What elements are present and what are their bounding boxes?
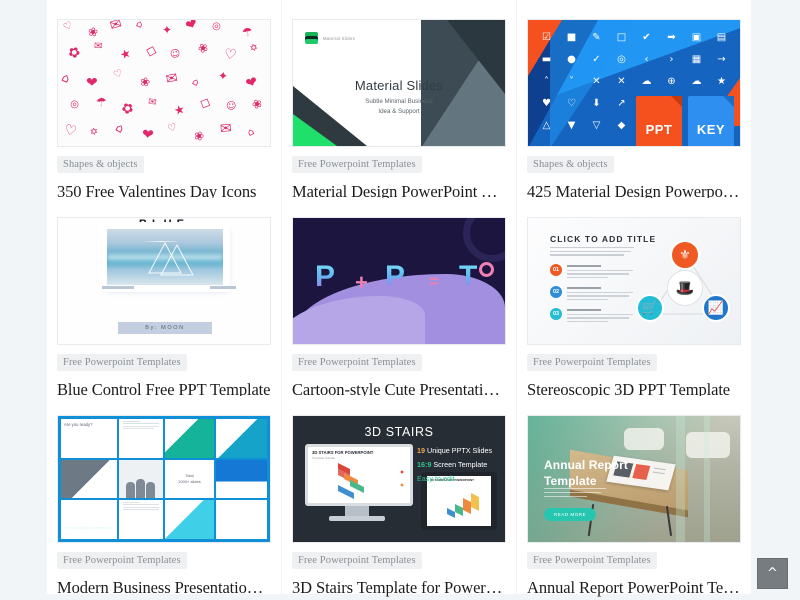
annual-line-2: Template: [544, 474, 597, 488]
card-title[interactable]: Annual Report PowerPoint Tem…: [527, 578, 741, 598]
slide-headline: 3D STAIRS: [293, 425, 505, 439]
template-card[interactable]: Material Slides Material Slides Subtle M…: [282, 0, 516, 198]
chevron-up-icon: ^: [767, 566, 778, 581]
valentine-icon: ❀: [87, 25, 98, 38]
template-card[interactable]: ♡❀✉⌂✦❤◎☂✿✉★◇☺❀♡✡⌂❤♡❀✉⌂✦❤◎☂✿✉★◇☺❀♡✡⌂❤♡❀✉⌂…: [47, 0, 281, 198]
slide-triangle: [165, 500, 214, 539]
item-number: 02: [550, 286, 562, 298]
card-thumbnail[interactable]: BLUE CONTROL By: MOON: [57, 217, 271, 345]
slide-people: [119, 460, 163, 499]
card-thumbnail[interactable]: P + P = T: [292, 217, 506, 345]
valentine-icon: ⌂: [190, 77, 200, 89]
annual-report-thumb: Annual Report Template READ MORE: [528, 416, 740, 542]
blue-control-thumb: BLUE CONTROL By: MOON: [58, 218, 270, 344]
material-icon: ▦: [684, 50, 709, 72]
modern-headline: MODERN: [61, 509, 117, 524]
card-title[interactable]: 3D Stairs Template for PowerPoint: [292, 578, 506, 598]
slide-modern-title: MODERN Presentation template: [61, 500, 117, 539]
slide-headline: Material Slides: [293, 78, 505, 93]
feature-list: 19 Unique PPTX Slides16:9 Screen Templat…: [417, 446, 499, 488]
numbered-item: 01: [550, 264, 633, 280]
triangle-outlines-icon: [107, 229, 223, 285]
imac-base: [329, 516, 385, 521]
valentine-icon: ⌂: [60, 71, 72, 85]
annual-subtext: [544, 488, 606, 499]
card-thumbnail[interactable]: ☑■✎□✔➡▣▤▬●✓◎‹›▦→˄˅✕✕☁⊕☁★♥♡⬇↗◉≡⚿▲△▼▽◆✉⎙▧↻…: [527, 19, 741, 147]
template-card-grid: ♡❀✉⌂✦❤◎☂✿✉★◇☺❀♡✡⌂❤♡❀✉⌂✦❤◎☂✿✉★◇☺❀♡✡⌂❤♡❀✉⌂…: [0, 0, 800, 594]
valentine-icon: ◎: [69, 99, 80, 111]
purple-wave-light: [293, 296, 425, 344]
valentine-icon: ❤: [86, 76, 98, 90]
material-icons-grid-thumb: ☑■✎□✔➡▣▤▬●✓◎‹›▦→˄˅✕✕☁⊕☁★♥♡⬇↗◉≡⚿▲△▼▽◆✉⎙▧↻…: [528, 20, 740, 146]
slide-total: Total 1000+ slides: [165, 460, 214, 499]
valentine-icon: ⌂: [134, 20, 144, 31]
material-icon: ●: [559, 50, 584, 72]
valentine-icon: ◇: [144, 43, 158, 60]
valentines-icons-thumb: ♡❀✉⌂✦❤◎☂✿✉★◇☺❀♡✡⌂❤♡❀✉⌂✦❤◎☂✿✉★◇☺❀♡✡⌂❤♡❀✉⌂: [58, 20, 270, 146]
card-category-tag[interactable]: Free Powerpoint Templates: [292, 156, 422, 173]
slide-subline: Subtle Minimal Business Idea & Support: [293, 97, 505, 116]
valentine-icon: ☂: [241, 25, 254, 39]
ready-label: Are you ready?: [64, 422, 114, 427]
valentine-icon: ✡: [249, 43, 260, 55]
valentine-icon: ♡: [62, 20, 75, 33]
card-thumbnail[interactable]: Material Slides Material Slides Subtle M…: [292, 19, 506, 147]
material-icon: □: [609, 28, 634, 50]
material-icon: ✕: [584, 72, 609, 94]
modern-sub: Presentation template: [65, 526, 113, 530]
feature-item: 19 Unique PPTX Slides: [417, 446, 499, 455]
card-category-tag[interactable]: Free Powerpoint Templates: [527, 552, 657, 569]
material-icon: ⊕: [659, 72, 684, 94]
card-thumbnail[interactable]: Annual Report Template READ MORE: [527, 415, 741, 543]
card-category-tag[interactable]: Shapes & objects: [527, 156, 614, 173]
material-icon: →: [709, 50, 734, 72]
valentine-icon: ❀: [192, 129, 205, 144]
template-card[interactable]: Are you ready? Total 1000+ slides MODER: [47, 396, 281, 594]
material-icon: ✓: [584, 50, 609, 72]
valentine-icon: ★: [173, 103, 186, 117]
valentine-icon: ✉: [147, 97, 157, 108]
material-icon: ➡: [659, 28, 684, 50]
valentine-icon: ♡: [112, 69, 124, 82]
template-card[interactable]: 3D STAIRS 3D STAIRS FOR POWERPOINT Templ…: [282, 396, 516, 594]
material-icon: ☁: [684, 72, 709, 94]
numbered-item: 03: [550, 308, 633, 324]
stereoscopic-thumb: CLICK TO ADD TITLE 010203 ⚜ 🛒 📈 🎩: [528, 218, 740, 344]
card-thumbnail[interactable]: 3D STAIRS 3D STAIRS FOR POWERPOINT Templ…: [292, 415, 506, 543]
material-icon: ■: [559, 28, 584, 50]
valentine-icon: ❀: [250, 97, 264, 112]
green-corner-triangle: [293, 114, 337, 146]
equals-sign: =: [429, 272, 439, 292]
feature-item: Easy to edit: [417, 474, 499, 483]
valentine-icon: ❤: [184, 20, 201, 34]
card-title[interactable]: Modern Business Presentation T…: [57, 578, 271, 598]
valentine-icon: ✦: [218, 70, 229, 83]
card-thumbnail[interactable]: ♡❀✉⌂✦❤◎☂✿✉★◇☺❀♡✡⌂❤♡❀✉⌂✦❤◎☂✿✉★◇☺❀♡✡⌂❤♡❀✉⌂: [57, 19, 271, 147]
material-icon: ☁: [634, 72, 659, 94]
photo-frame: [104, 226, 226, 288]
valentine-icon: ✉: [108, 20, 123, 33]
material-icon: ★: [709, 72, 734, 94]
valentine-icon: ⌂: [114, 121, 126, 135]
org-chart-icon: ⚜: [670, 240, 700, 270]
material-icon: ▣: [684, 28, 709, 50]
slide-dots: [216, 500, 267, 539]
valentine-icon: ✦: [162, 24, 172, 36]
material-icon: ▬: [534, 50, 559, 72]
template-card[interactable]: ☑■✎□✔➡▣▤▬●✓◎‹›▦→˄˅✕✕☁⊕☁★♥♡⬇↗◉≡⚿▲△▼▽◆✉⎙▧↻…: [517, 0, 751, 198]
read-more-button[interactable]: READ MORE: [544, 508, 596, 521]
valentine-icon: ◇: [198, 94, 213, 111]
slide-subline-2: Idea & Support: [378, 108, 419, 115]
slide-teal-diagonal: [165, 419, 214, 458]
material-icon: ˅: [559, 72, 584, 94]
card-category-tag[interactable]: Free Powerpoint Templates: [292, 354, 422, 371]
annual-line-1: Annual Report: [544, 458, 628, 472]
ppt-label: PPT: [636, 122, 682, 137]
material-icon: ▤: [709, 28, 734, 50]
scroll-to-top-button[interactable]: ^: [757, 558, 788, 589]
card-category-tag[interactable]: Free Powerpoint Templates: [292, 552, 422, 569]
screen-title: 3D STAIRS FOR POWERPOINT: [312, 450, 373, 455]
valentine-icon: ❀: [196, 40, 211, 55]
card-thumbnail[interactable]: Are you ready? Total 1000+ slides MODER: [57, 415, 271, 543]
material-icon: ↗: [609, 94, 634, 116]
template-card[interactable]: Annual Report Template READ MORE Free Po…: [517, 396, 751, 594]
letter-t: T: [459, 260, 477, 294]
material-slides-thumb: Material Slides Material Slides Subtle M…: [293, 20, 505, 146]
stairs-graphic: [308, 459, 410, 503]
valentine-icon: ☺: [226, 102, 236, 112]
valentine-icon: ✉: [165, 71, 179, 87]
item-text: [567, 286, 633, 302]
valentine-icon: ✿: [66, 44, 83, 62]
card-category-tag[interactable]: Free Powerpoint Templates: [57, 552, 187, 569]
slide-subline-1: Subtle Minimal Business: [365, 98, 432, 105]
slide-logo: Material Slides: [305, 32, 355, 45]
material-icon: ‹: [634, 50, 659, 72]
material-icon: ♡: [559, 94, 584, 116]
ppt-file-icon: PPT: [636, 96, 682, 146]
letter-p-2: P: [385, 260, 405, 294]
item-number: 03: [550, 308, 562, 320]
modern-business-thumb: Are you ready? Total 1000+ slides MODER: [58, 416, 270, 542]
material-icon: ◎: [609, 50, 634, 72]
template-card[interactable]: CLICK TO ADD TITLE 010203 ⚜ 🛒 📈 🎩 Free P…: [517, 198, 751, 396]
cart-icon: 🛒: [636, 294, 664, 322]
material-icon: ◆: [609, 116, 634, 138]
valentine-icon: ✿: [119, 100, 136, 118]
slide-ready: Are you ready?: [61, 419, 117, 458]
slide-grid: Are you ready? Total 1000+ slides MODER: [61, 419, 267, 539]
total-line-2: 1000+ slides: [178, 479, 201, 485]
bar-chart-icon: 📈: [702, 294, 730, 322]
item-text: [567, 308, 633, 324]
numbered-item: 02: [550, 286, 633, 302]
body-text-lines: [550, 247, 634, 258]
slide-doc: [119, 500, 163, 539]
material-icon: ⬇: [584, 94, 609, 116]
valentine-icon: ❤: [244, 74, 260, 91]
valentine-icon: ◎: [211, 21, 222, 33]
byline-badge: By: MOON: [118, 322, 212, 334]
valentine-icon: ★: [118, 47, 132, 62]
letter-p-1: P: [315, 260, 335, 294]
material-icon: ˄: [534, 72, 559, 94]
annual-report-title: Annual Report Template: [544, 458, 628, 490]
key-label: KEY: [688, 122, 734, 137]
card-category-tag[interactable]: Shapes & objects: [57, 156, 144, 173]
cube-icon: [305, 32, 318, 45]
template-card[interactable]: BLUE CONTROL By: MOON Free Powerpoint Te…: [47, 198, 281, 396]
chair-back-1: [624, 428, 664, 450]
material-icon: ♥: [534, 94, 559, 116]
material-icon: ▽: [584, 116, 609, 138]
material-icon: ✎: [584, 28, 609, 50]
material-icon: △: [534, 116, 559, 138]
stairs-thumb: 3D STAIRS 3D STAIRS FOR POWERPOINT Templ…: [293, 416, 505, 542]
material-icon: ▼: [559, 116, 584, 138]
hat-icon: 🎩: [667, 270, 703, 306]
template-card[interactable]: P + P = T Free Powerpoint Templates Cart…: [282, 198, 516, 396]
ring-decoration: [463, 218, 505, 262]
valentine-icon: ❀: [139, 75, 152, 89]
valentine-icon: ♡: [167, 123, 179, 135]
material-icon: ☑: [534, 28, 559, 50]
slide-photo: [216, 419, 267, 458]
valentine-icon: ♡: [62, 123, 78, 140]
valentine-icon: ✡: [89, 127, 99, 138]
item-text: [567, 264, 633, 280]
slide-text: [119, 419, 163, 458]
valentine-icon: ⌂: [246, 127, 256, 139]
valentine-icon: ♡: [223, 47, 237, 63]
imac-mockup: 3D STAIRS FOR POWERPOINT Template Subtit…: [305, 444, 413, 506]
valentine-icon: ☂: [95, 96, 107, 109]
slide-profile: [216, 460, 267, 499]
slide-dark-photo: [61, 460, 117, 499]
material-icon: ✕: [609, 72, 634, 94]
key-file-icon: KEY: [688, 96, 734, 146]
valentine-icon: ✉: [220, 122, 233, 137]
card-category-tag[interactable]: Free Powerpoint Templates: [527, 354, 657, 371]
circle-accent: [479, 262, 494, 277]
imac-stand: [345, 506, 369, 516]
slide-logo-label: Material Slides: [323, 36, 355, 41]
item-number: 01: [550, 264, 562, 276]
material-icon: ✔: [634, 28, 659, 50]
material-icon: ›: [659, 50, 684, 72]
feature-item: 16:9 Screen Template: [417, 460, 499, 469]
card-category-tag[interactable]: Free Powerpoint Templates: [57, 354, 187, 371]
imac-screen: 3D STAIRS FOR POWERPOINT Template Subtit…: [308, 447, 410, 503]
plus-sign: +: [355, 270, 368, 296]
sea-gradient-image: [107, 229, 223, 285]
valentine-icon: ✉: [94, 42, 103, 52]
valentine-icon: ❤: [141, 128, 154, 143]
cartoon-ppt-thumb: P + P = T: [293, 218, 505, 344]
card-thumbnail[interactable]: CLICK TO ADD TITLE 010203 ⚜ 🛒 📈 🎩: [527, 217, 741, 345]
valentine-icon: ☺: [170, 49, 181, 60]
